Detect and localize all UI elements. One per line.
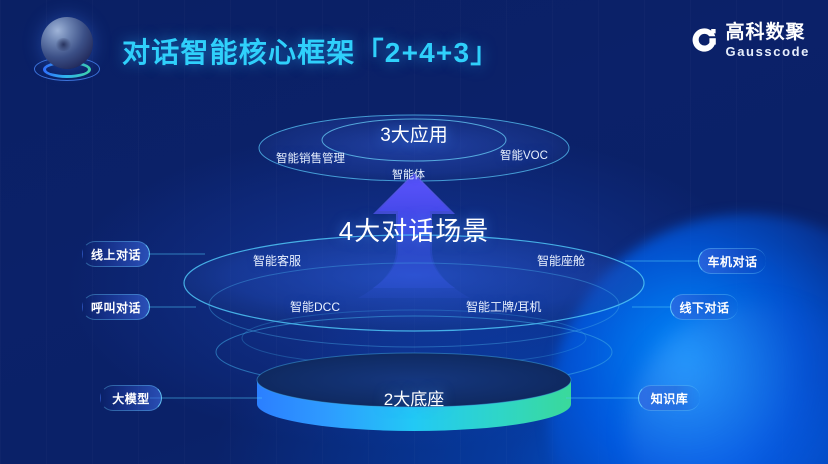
side-tag-online-dialogue[interactable]: 线上对话: [82, 241, 150, 267]
agent-arrow-label: 智能体: [392, 166, 425, 182]
application-label-sales: 智能销售管理: [276, 150, 345, 166]
scenario-label-service: 智能客服: [253, 252, 301, 269]
scenarios-ellipse: [184, 235, 644, 331]
side-tag-call-dialogue[interactable]: 呼叫对话: [82, 294, 150, 320]
scenario-label-badge: 智能工牌/耳机: [466, 298, 541, 315]
side-tag-offline-dialogue[interactable]: 线下对话: [670, 294, 738, 320]
scenario-label-cockpit: 智能座舱: [537, 252, 585, 269]
side-tag-in-car-dialogue[interactable]: 车机对话: [698, 248, 766, 274]
side-tag-large-model[interactable]: 大模型: [100, 385, 162, 411]
slide-canvas: 对话智能核心框架「2+4+3」 高科数聚 Gausscode: [0, 0, 828, 464]
applications-layer-title: 3大应用: [0, 120, 828, 147]
side-tag-knowledge-base[interactable]: 知识库: [638, 385, 700, 411]
scenario-label-dcc: 智能DCC: [290, 298, 340, 315]
application-label-voc: 智能VOC: [500, 147, 548, 163]
